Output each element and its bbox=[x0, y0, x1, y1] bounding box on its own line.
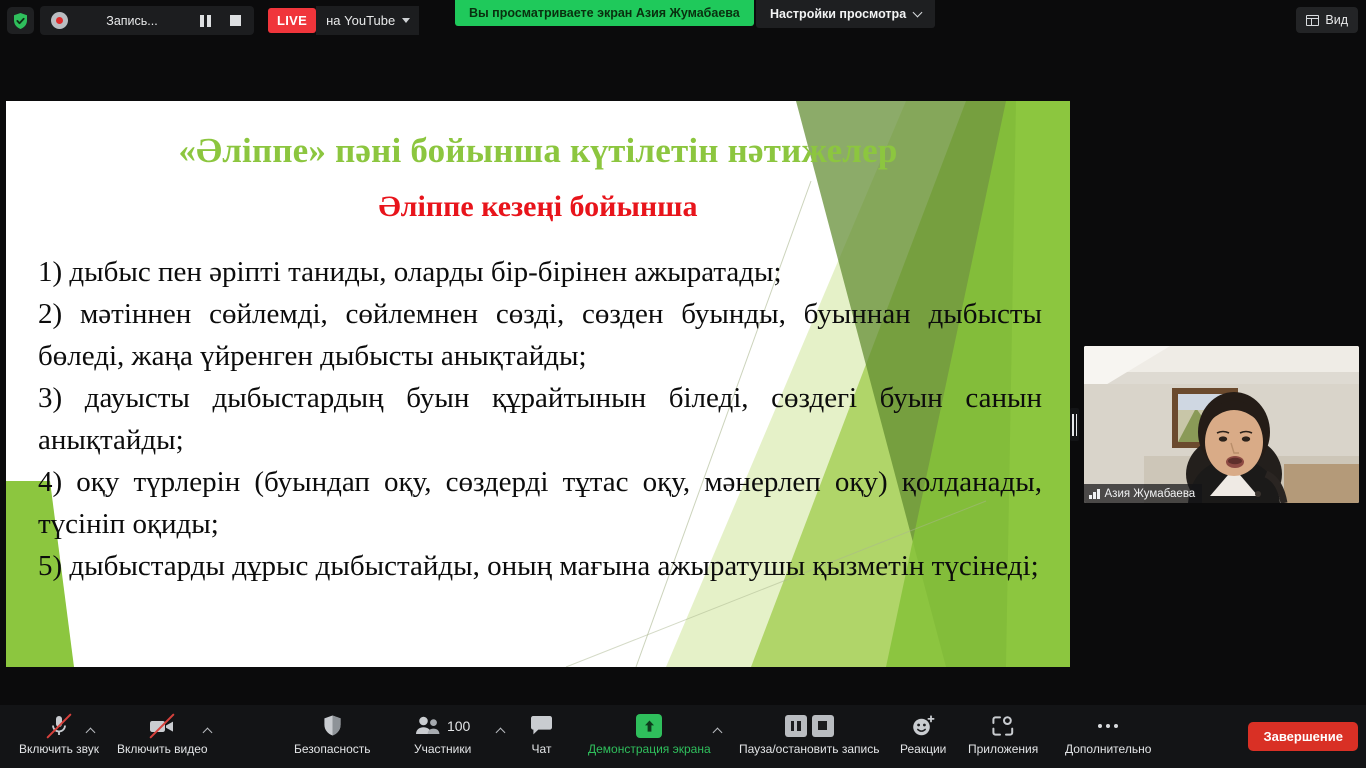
toolbar-label-participants: Участники bbox=[414, 742, 471, 756]
screen-share-banner: Вы просматриваете экран Азия Жумабаева bbox=[455, 0, 754, 26]
pause-icon bbox=[200, 15, 211, 27]
toolbar-item-reactions[interactable]: Реакции bbox=[900, 712, 946, 756]
meeting-toolbar: Включить звук Включить видео bbox=[0, 705, 1366, 768]
toolbar-label-more: Дополнительно bbox=[1065, 742, 1151, 756]
recording-control-group: Запись... bbox=[40, 6, 254, 35]
chevron-down-icon bbox=[913, 7, 923, 17]
toolbar-label-apps: Приложения bbox=[968, 742, 1038, 756]
stop-recording-button[interactable] bbox=[222, 8, 248, 34]
slide-body-item: 4) оқу түрлерін (буындап оқу, сөздерді т… bbox=[38, 461, 1042, 545]
share-screen-icon bbox=[636, 712, 662, 739]
pause-stop-recording-icon bbox=[785, 712, 834, 739]
security-shield-icon[interactable] bbox=[7, 7, 34, 34]
caret-down-icon bbox=[402, 18, 410, 23]
shared-screen-stage: «Әліппе» пәні бойынша күтілетін нәтижеле… bbox=[0, 41, 1366, 705]
toolbar-item-more[interactable]: Дополнительно bbox=[1065, 712, 1151, 756]
toolbar-item-security[interactable]: Безопасность bbox=[294, 712, 371, 756]
participants-count: 100 bbox=[447, 718, 470, 734]
toolbar-item-share-screen[interactable]: Демонстрация экрана bbox=[588, 712, 711, 756]
toolbar-label-recording: Пауза/остановить запись bbox=[739, 742, 879, 756]
apps-icon bbox=[991, 712, 1015, 739]
video-panel-drag-handle[interactable] bbox=[1070, 408, 1079, 441]
toolbar-label-video: Включить видео bbox=[117, 742, 208, 756]
recording-indicator-icon bbox=[46, 8, 72, 34]
toolbar-label-chat: Чат bbox=[532, 742, 552, 756]
slide-body-list: 1) дыбыс пен әріпті таниды, оларды бір-б… bbox=[38, 251, 1042, 587]
participant-name-plate: Азия Жумабаева bbox=[1084, 484, 1202, 503]
toolbar-item-video[interactable]: Включить видео bbox=[117, 712, 208, 756]
presentation-slide: «Әліппе» пәні бойынша күтілетін нәтижеле… bbox=[6, 101, 1070, 667]
participant-name-label: Азия Жумабаева bbox=[1105, 488, 1196, 500]
view-settings-dropdown[interactable]: Настройки просмотра bbox=[756, 0, 935, 28]
toolbar-label-share-screen: Демонстрация экрана bbox=[588, 742, 711, 756]
stop-icon bbox=[230, 15, 241, 26]
toolbar-item-participants[interactable]: 100 Участники bbox=[414, 712, 471, 756]
toolbar-item-apps[interactable]: Приложения bbox=[968, 712, 1038, 756]
slide-title: «Әліппе» пәні бойынша күтілетін нәтижеле… bbox=[6, 131, 1070, 171]
slide-body-item: 5) дыбыстарды дұрыс дыбыстайды, оның мағ… bbox=[38, 545, 1042, 587]
slide-body-item: 1) дыбыс пен әріпті таниды, оларды бір-б… bbox=[38, 251, 1042, 293]
participant-video-tile[interactable]: Азия Жумабаева bbox=[1084, 346, 1359, 503]
toolbar-label-security: Безопасность bbox=[294, 742, 371, 756]
view-button-label: Вид bbox=[1325, 13, 1348, 27]
view-layout-button[interactable]: Вид bbox=[1296, 7, 1358, 33]
camera-muted-icon bbox=[148, 712, 176, 739]
toolbar-label-mute: Включить звук bbox=[19, 742, 99, 756]
share-options-arrow-icon[interactable] bbox=[710, 724, 724, 738]
live-badge: LIVE bbox=[268, 8, 316, 33]
microphone-muted-icon bbox=[49, 712, 69, 739]
recording-status-label: Запись... bbox=[76, 14, 188, 28]
reactions-smiley-icon bbox=[910, 712, 936, 739]
stream-target-dropdown[interactable]: на YouTube bbox=[316, 6, 419, 35]
zoom-meeting-window: Запись... LIVE на YouTube Вы просматрива… bbox=[0, 0, 1366, 768]
stop-recording-icon bbox=[812, 715, 834, 737]
grid-view-icon bbox=[1306, 15, 1319, 26]
view-settings-label: Настройки просмотра bbox=[770, 7, 906, 21]
slide-body-item: 2) мәтіннен сөйлемді, сөйлемнен сөзді, с… bbox=[38, 293, 1042, 377]
toolbar-item-recording[interactable]: Пауза/остановить запись bbox=[739, 712, 879, 756]
signal-bars-icon bbox=[1089, 489, 1100, 499]
live-stream-group: LIVE на YouTube bbox=[266, 6, 419, 35]
top-bar: Запись... LIVE на YouTube Вы просматрива… bbox=[0, 0, 1366, 41]
video-options-arrow-icon[interactable] bbox=[200, 724, 214, 738]
more-ellipsis-icon bbox=[1098, 712, 1118, 739]
slide-subtitle: Әліппе кезеңі бойынша bbox=[6, 190, 1070, 224]
mute-options-arrow-icon[interactable] bbox=[83, 724, 97, 738]
chat-bubble-icon bbox=[529, 712, 554, 739]
end-meeting-button[interactable]: Завершение bbox=[1248, 722, 1358, 751]
participants-options-arrow-icon[interactable] bbox=[493, 724, 507, 738]
participants-icon: 100 bbox=[415, 712, 470, 739]
pause-recording-button[interactable] bbox=[192, 8, 218, 34]
stream-target-label: на YouTube bbox=[326, 13, 395, 28]
pause-recording-icon bbox=[785, 715, 807, 737]
toolbar-label-reactions: Реакции bbox=[900, 742, 946, 756]
toolbar-item-chat[interactable]: Чат bbox=[529, 712, 554, 756]
shield-icon bbox=[322, 712, 343, 739]
slide-body-item: 3) дауысты дыбыстардың буын құрайтынын б… bbox=[38, 377, 1042, 461]
video-feed-image bbox=[1084, 346, 1359, 503]
